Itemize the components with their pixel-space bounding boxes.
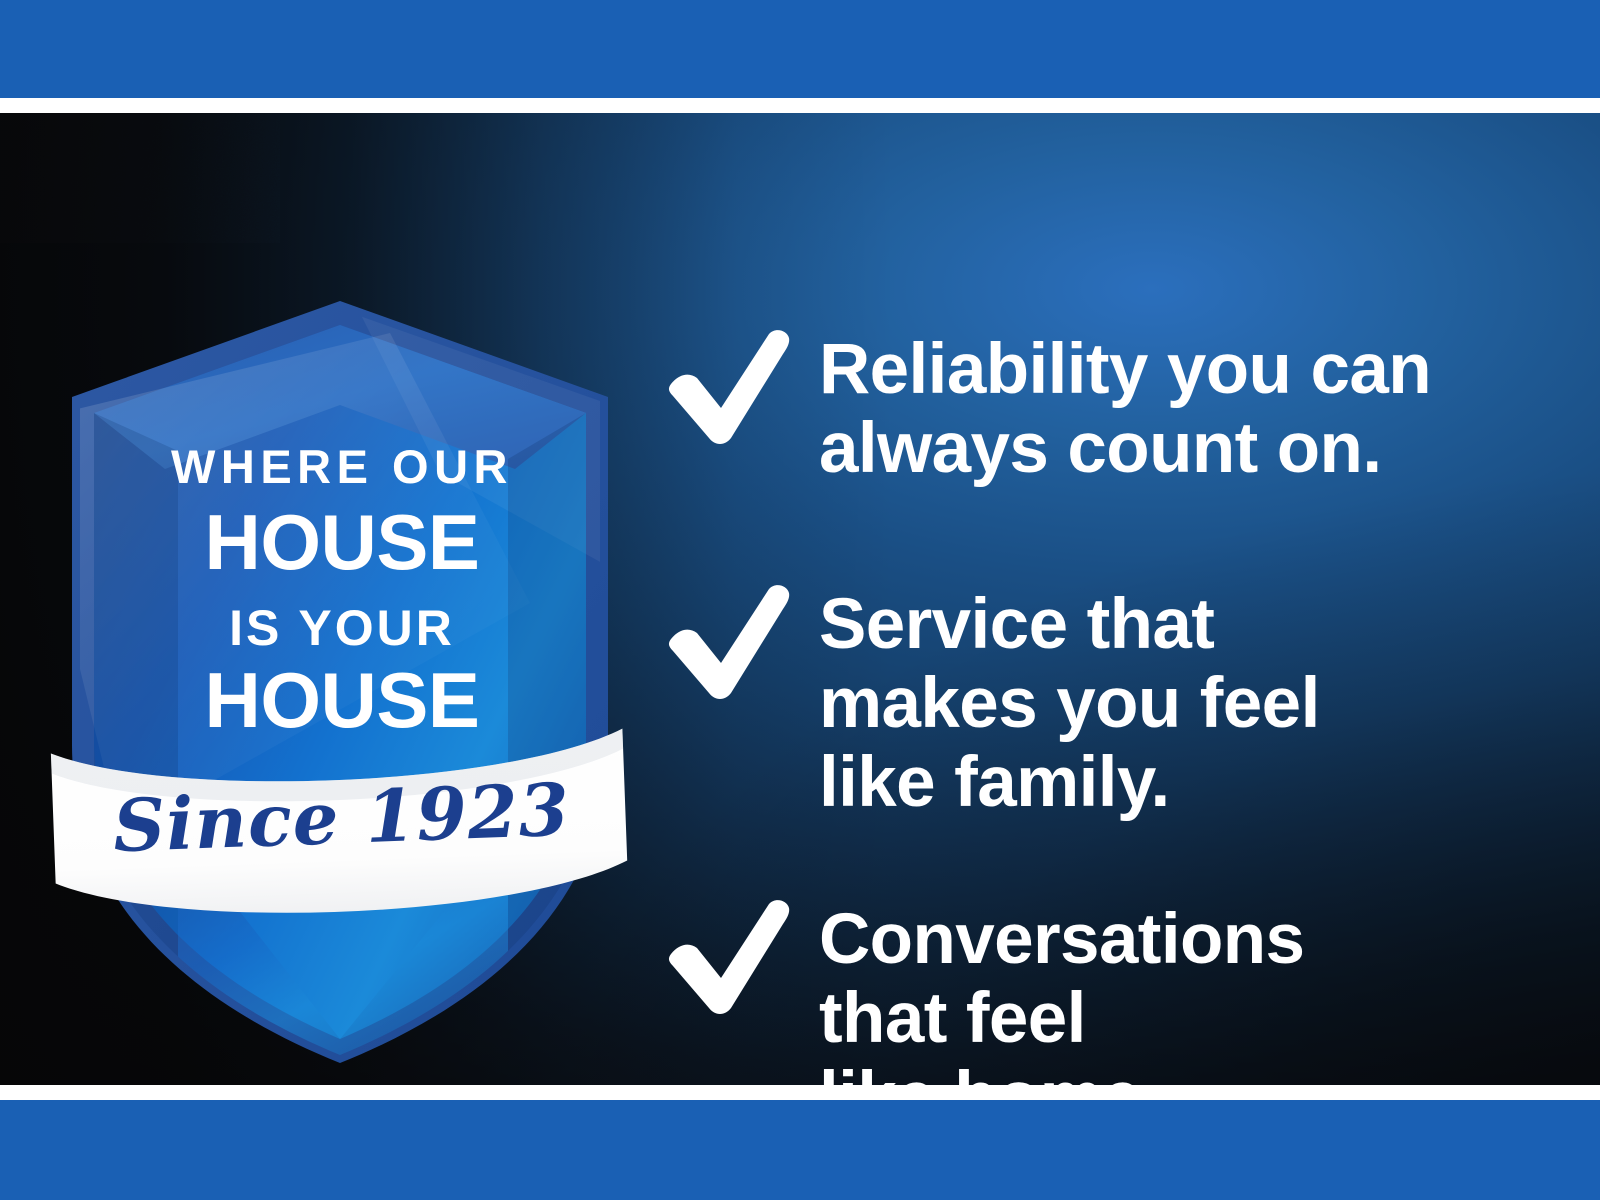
bottom-white-rule: [0, 1085, 1600, 1100]
benefit-text: Service that makes you feel like family.: [819, 581, 1525, 822]
checkmark-icon: [665, 583, 793, 701]
badge-line-house-2: HOUSE: [205, 656, 480, 744]
background-grain-texture: [0, 113, 280, 243]
shield-badge: WHERE OUR HOUSE IS YOUR HOUSE Since 1923: [60, 273, 620, 1063]
badge-line-where-our: WHERE OUR: [171, 440, 513, 493]
benefit-item: Conversations that feel like home.: [665, 896, 1525, 1090]
benefit-text: Conversations that feel like home.: [819, 896, 1525, 1090]
benefit-item: Service that makes you feel like family.: [665, 581, 1525, 822]
badge-line-house-1: HOUSE: [205, 498, 480, 586]
ribbon-text-since-1923: Since 1923: [112, 767, 572, 869]
shield-left-shade: [94, 413, 178, 1063]
bottom-blue-bar: [0, 1100, 1600, 1200]
promo-banner: WHERE OUR HOUSE IS YOUR HOUSE Since 1923: [0, 0, 1600, 1200]
checkmark-icon: [665, 898, 793, 1016]
benefit-text: Reliability you can always count on.: [819, 326, 1525, 488]
benefit-item: Reliability you can always count on.: [665, 326, 1525, 488]
shield-right-shade: [508, 413, 586, 1063]
banner-stage: WHERE OUR HOUSE IS YOUR HOUSE Since 1923: [0, 113, 1600, 1090]
checkmark-icon: [665, 328, 793, 446]
badge-line-is-your: IS YOUR: [229, 600, 455, 656]
top-blue-bar: [0, 0, 1600, 98]
benefits-list: Reliability you can always count on. Ser…: [665, 231, 1525, 1090]
top-white-rule: [0, 98, 1600, 113]
